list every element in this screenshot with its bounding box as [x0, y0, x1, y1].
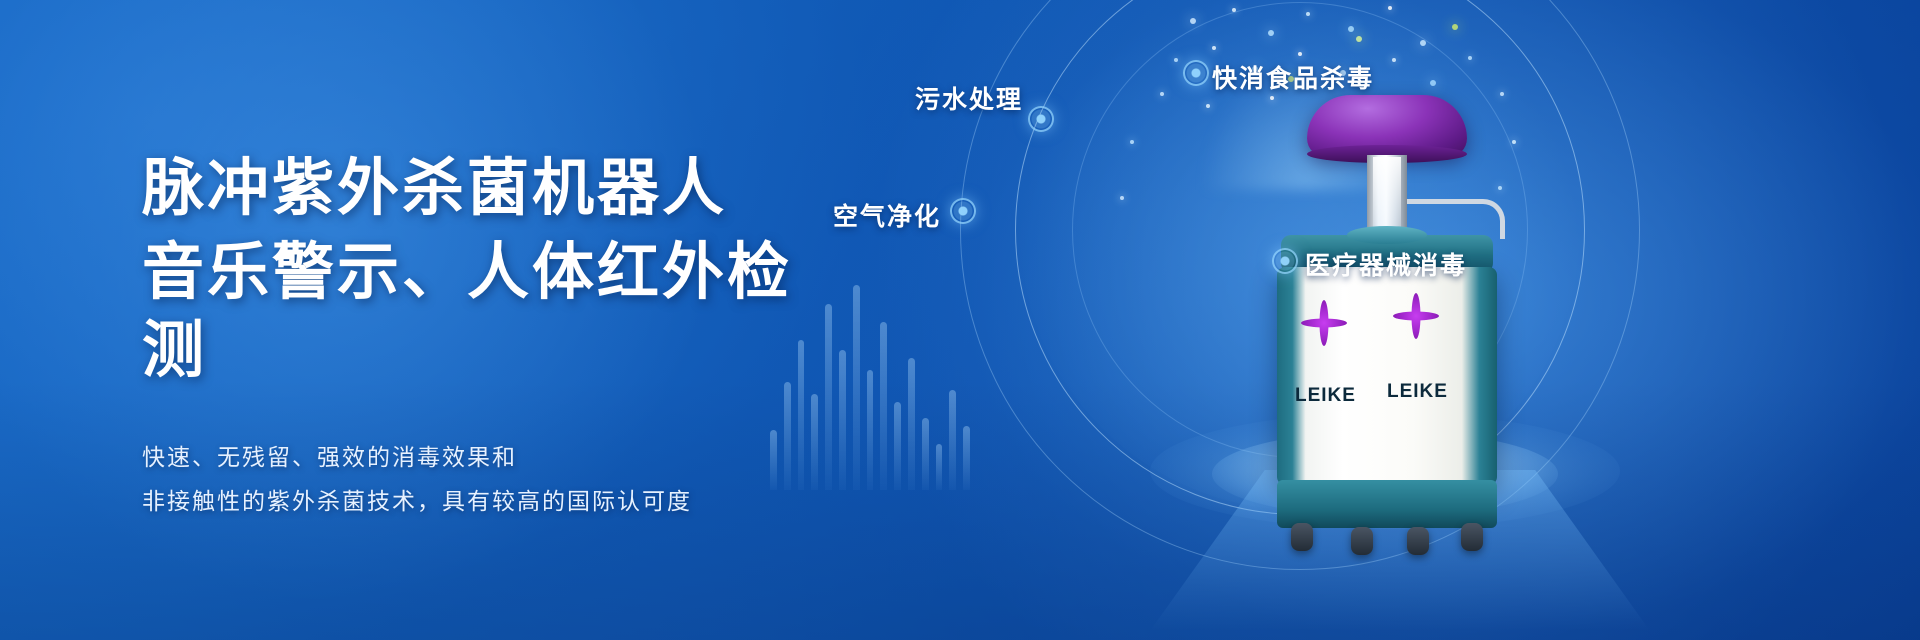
device-wheel: [1351, 527, 1373, 555]
device-wheel: [1461, 523, 1483, 551]
feature-marker-food[interactable]: [1183, 60, 1209, 86]
hero-copy-block: 脉冲紫外杀菌机器人 音乐警示、人体红外检测 快速、无残留、强效的消毒效果和 非接…: [142, 150, 842, 524]
subtext-line-1: 快速、无残留、强效的消毒效果和: [142, 436, 842, 480]
subtext-block: 快速、无残留、强效的消毒效果和 非接触性的紫外杀菌技术，具有较高的国际认可度: [142, 436, 842, 524]
device-brand-right: LEIKE: [1387, 381, 1448, 403]
feature-tag-air[interactable]: 空气净化: [833, 197, 941, 233]
feature-marker-wastewater[interactable]: [1028, 106, 1054, 132]
uv-robot-illustration: LEIKE LEIKE: [1255, 95, 1515, 555]
subtext-line-2: 非接触性的紫外杀菌技术，具有较高的国际认可度: [142, 480, 842, 524]
feature-tag-medical[interactable]: 医疗器械消毒: [1305, 246, 1467, 282]
headline-line-2: 音乐警示、人体红外检测: [142, 234, 842, 390]
device-wheel: [1291, 523, 1313, 551]
sparkle-icon: [1301, 300, 1347, 346]
device-base: [1277, 480, 1497, 528]
feature-marker-air[interactable]: [950, 198, 976, 224]
headline-line-1: 脉冲紫外杀菌机器人: [142, 150, 842, 228]
feature-tag-wastewater[interactable]: 污水处理: [915, 80, 1023, 116]
feature-marker-medical[interactable]: [1272, 248, 1298, 274]
device-wheel: [1407, 527, 1429, 555]
feature-tag-food[interactable]: 快消食品杀毒: [1212, 59, 1374, 95]
sparkle-icon: [1393, 293, 1439, 339]
device-brand-left: LEIKE: [1295, 385, 1356, 407]
hero-banner: LEIKE LEIKE 污水处理 快消食品杀毒 空气净化 医疗器械消毒 脉冲紫外…: [0, 0, 1920, 640]
